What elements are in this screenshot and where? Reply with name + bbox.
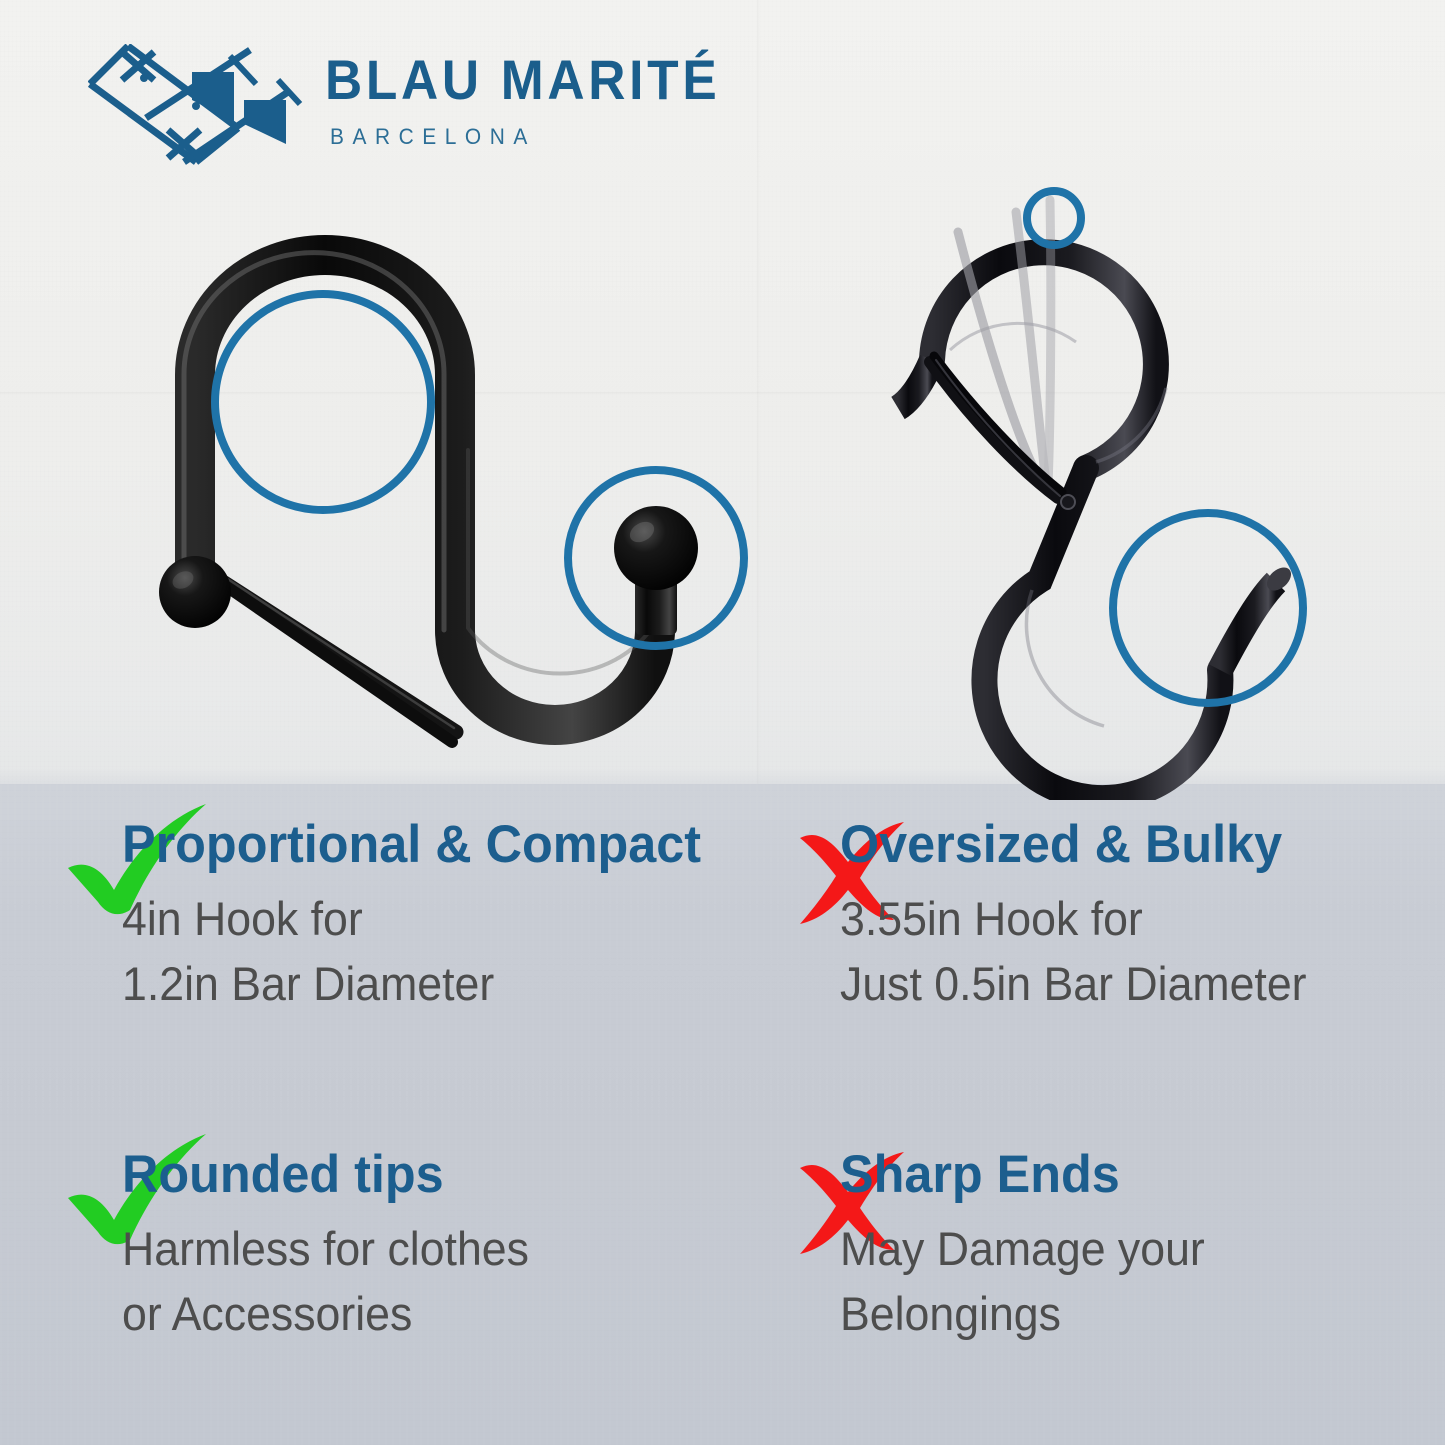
feature-body: Harmless for clothes or Accessories [72, 1217, 732, 1347]
feature-title: Oversized & Bulky [840, 818, 1420, 871]
feature-line: Just 0.5in Bar Diameter [840, 952, 1420, 1017]
feature-title: Rounded tips [122, 1148, 702, 1201]
product-comparison-infographic: BLAU MARITÉ BARCELONA [0, 0, 1445, 1445]
brand-logo: BLAU MARITÉ BARCELONA [88, 44, 755, 166]
feature-body: 4in Hook for 1.2in Bar Diameter [72, 887, 732, 1017]
feature-line: Belongings [840, 1282, 1420, 1347]
feature-line: Harmless for clothes [122, 1217, 702, 1282]
feature-line: or Accessories [122, 1282, 702, 1347]
feature-item-oversized-bulky: Oversized & Bulky 3.55in Hook for Just 0… [790, 818, 1445, 1017]
feature-line: 1.2in Bar Diameter [122, 952, 702, 1017]
brand-city: BARCELONA [330, 126, 734, 148]
s-hook-rounded-tips-photo [140, 150, 760, 800]
brand-name: BLAU MARITÉ [325, 52, 720, 108]
feature-body: May Damage your Belongings [790, 1217, 1445, 1347]
brand-wordmark: BLAU MARITÉ BARCELONA [325, 44, 755, 148]
product-photo-bad-hook [890, 150, 1340, 800]
product-photo-good-hook [140, 150, 760, 800]
feature-line: 4in Hook for [122, 887, 702, 952]
feature-title: Proportional & Compact [122, 818, 702, 871]
annotation-circle-wide-opening [215, 294, 431, 510]
s-hook-sharp-ends-photo [890, 150, 1340, 800]
feature-item-sharp-ends: Sharp Ends May Damage your Belongings [790, 1148, 1445, 1347]
feature-line: May Damage your [840, 1217, 1420, 1282]
feature-body: 3.55in Hook for Just 0.5in Bar Diameter [790, 887, 1445, 1017]
two-fish-icon [88, 44, 303, 166]
feature-item-proportional-compact: Proportional & Compact 4in Hook for 1.2i… [72, 818, 732, 1017]
feature-item-rounded-tips: Rounded tips Harmless for clothes or Acc… [72, 1148, 732, 1347]
feature-line: 3.55in Hook for [840, 887, 1420, 952]
feature-title: Sharp Ends [840, 1148, 1420, 1201]
